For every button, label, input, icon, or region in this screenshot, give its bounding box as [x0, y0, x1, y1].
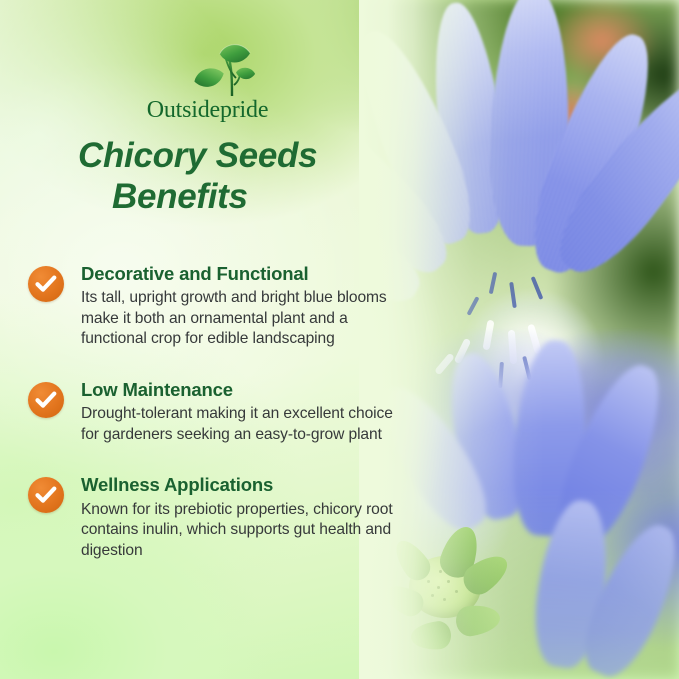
benefit-heading: Decorative and Functional [81, 262, 408, 285]
title-line-1: Chicory Seeds [78, 136, 317, 175]
check-circle-icon [28, 382, 64, 418]
page-title: Chicory Seeds Benefits [78, 136, 408, 217]
check-circle-icon [28, 477, 64, 513]
benefits-list: Decorative and Functional Its tall, upri… [28, 262, 408, 584]
benefit-item: Decorative and Functional Its tall, upri… [28, 262, 408, 350]
leaf-sprig-icon [192, 42, 264, 100]
benefit-item: Wellness Applications Known for its preb… [28, 473, 408, 561]
benefit-body: Drought-tolerant making it an excellent … [81, 404, 408, 445]
benefit-body: Known for its prebiotic properties, chic… [81, 500, 408, 562]
benefit-item: Low Maintenance Drought-tolerant making … [28, 378, 408, 445]
brand-logo[interactable]: Outsidepride [140, 42, 275, 122]
brand-name: Outsidepride [140, 98, 275, 122]
infographic-canvas: Outsidepride Chicory Seeds Benefits Deco… [0, 0, 679, 679]
benefit-heading: Low Maintenance [81, 378, 408, 401]
benefit-body: Its tall, upright growth and bright blue… [81, 288, 408, 350]
title-line-2: Benefits [78, 177, 408, 218]
benefit-heading: Wellness Applications [81, 473, 408, 496]
check-circle-icon [28, 266, 64, 302]
